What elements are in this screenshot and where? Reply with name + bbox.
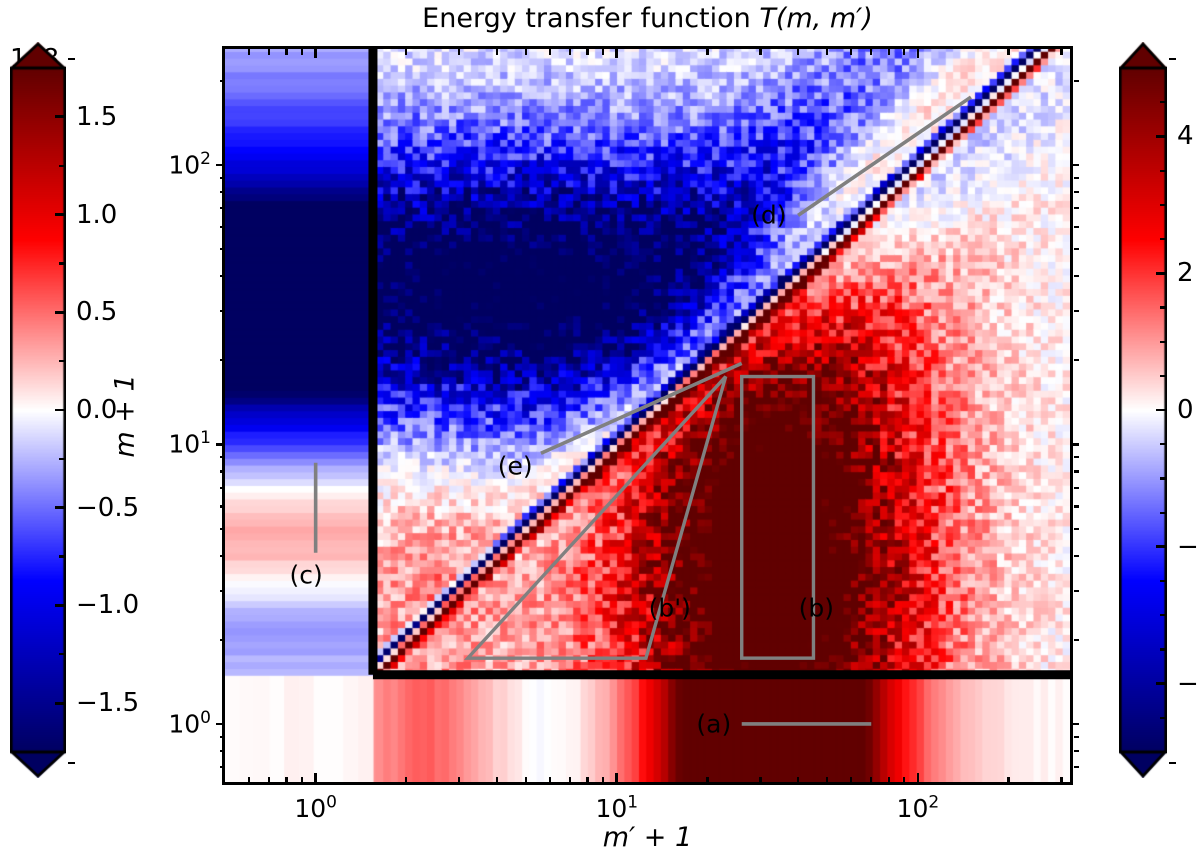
axis-tick [826, 777, 828, 783]
axis-tick [1074, 275, 1080, 277]
axis-tick [220, 226, 226, 228]
colorbar-minor-tick [59, 360, 66, 362]
axis-tick [1007, 49, 1009, 55]
axis-tick [549, 49, 551, 55]
annotation-label-d: (d) [751, 201, 786, 230]
colorbar-minor-tick [1160, 477, 1167, 479]
axis-tick [1074, 528, 1080, 530]
axis-tick [1070, 723, 1079, 726]
annotation-label-b: (b') [649, 593, 691, 622]
axis-tick [903, 49, 905, 55]
colorbar-extend-tick [1169, 58, 1176, 60]
colorbar-tick [1156, 135, 1167, 138]
y-tick-label: 102 [168, 150, 211, 179]
axis-tick [405, 49, 407, 55]
figure-root: Energy transfer function T(m, m′) 1e8 1.… [0, 0, 1200, 864]
axis-tick [917, 49, 920, 58]
axis-tick [525, 777, 527, 783]
axis-tick [405, 777, 407, 783]
colorbar-minor-tick [59, 262, 66, 264]
axis-tick [1074, 470, 1080, 472]
axis-tick [569, 49, 571, 55]
axis-tick [220, 191, 226, 193]
axis-tick [797, 49, 799, 55]
colorbar-tick [55, 604, 66, 607]
axis-tick [268, 49, 270, 55]
annotation-e-marker [541, 363, 742, 453]
axis-tick [220, 310, 226, 312]
axis-tick [314, 773, 317, 782]
axis-tick [220, 275, 226, 277]
colorbar-extend-tick [68, 762, 75, 764]
axis-tick [826, 49, 828, 55]
colorbar-tick [1156, 682, 1167, 685]
annotation-overlay [225, 49, 1070, 782]
colorbar-minor-tick [59, 751, 66, 753]
axis-tick [888, 49, 890, 55]
colorbar-tick [1156, 409, 1167, 412]
axis-tick [1060, 49, 1062, 55]
axis-tick [1060, 777, 1062, 783]
axis-tick [248, 777, 250, 783]
axis-tick [1070, 164, 1079, 167]
axis-tick [1074, 207, 1080, 209]
axis-tick [797, 777, 799, 783]
colorbar-minor-tick [1160, 512, 1167, 514]
axis-tick [586, 49, 588, 55]
annotation-label-a: (a) [696, 709, 731, 738]
y-tick-label: 101 [168, 430, 211, 459]
colorbar-minor-tick [1160, 238, 1167, 240]
colorbar-tick-label: 0 [1177, 395, 1194, 425]
axis-tick [220, 80, 226, 82]
annotation-label-e: (e) [498, 451, 533, 480]
colorbar-tick [1156, 272, 1167, 275]
axis-tick [1074, 80, 1080, 82]
axis-tick [301, 777, 303, 783]
colorbar-minor-tick [59, 458, 66, 460]
axis-tick [1074, 736, 1080, 738]
axis-tick [549, 777, 551, 783]
figure-title: Energy transfer function T(m, m′) [222, 2, 1073, 36]
colorbar-minor-tick [1160, 717, 1167, 719]
axis-tick [220, 766, 226, 768]
axis-tick [917, 773, 920, 782]
colorbar-tick-label: 2 [1177, 258, 1194, 288]
axis-tick [496, 49, 498, 55]
axis-tick [220, 528, 226, 530]
axis-tick [216, 443, 225, 446]
axis-tick [220, 177, 226, 179]
colorbar-tick [55, 506, 66, 509]
y-axis-label-text: m + 1 [110, 374, 141, 457]
axis-tick [248, 49, 250, 55]
axis-tick [1074, 359, 1080, 361]
axis-tick [220, 487, 226, 489]
colorbar-tick-label: −2 [1177, 532, 1200, 562]
axis-tick [220, 505, 226, 507]
colorbar-minor-tick [1160, 580, 1167, 582]
axis-tick [220, 470, 226, 472]
axis-tick [870, 777, 872, 783]
colorbar-minor-tick [1160, 443, 1167, 445]
colorbar-minor-tick [1160, 751, 1167, 753]
x-tick-label: 102 [897, 794, 940, 823]
colorbar-minor-tick [59, 555, 66, 557]
axis-tick [1074, 766, 1080, 768]
axis-tick [268, 777, 270, 783]
axis-tick [1074, 191, 1080, 193]
axis-tick [1074, 750, 1080, 752]
axis-tick [850, 777, 852, 783]
colorbar-tick [55, 311, 66, 314]
axis-tick [602, 49, 604, 55]
x-tick-label: 101 [595, 794, 638, 823]
axis-tick [496, 777, 498, 783]
axis-tick [220, 555, 226, 557]
axis-tick [615, 773, 618, 782]
axis-tick [706, 49, 708, 55]
axis-tick [458, 777, 460, 783]
y-axis-label: m + 1 [108, 46, 142, 785]
colorbar-minor-tick [1160, 341, 1167, 343]
colorbar-minor-tick [1160, 67, 1167, 69]
axis-tick [285, 777, 287, 783]
colorbar-left: 1e8 1.51.00.50.0−0.5−1.0−1.5 [10, 42, 66, 778]
colorbar-minor-tick [1160, 375, 1167, 377]
axis-tick [220, 750, 226, 752]
axis-tick [216, 164, 225, 167]
colorbar-minor-tick [1160, 306, 1167, 308]
axis-tick [1007, 777, 1009, 783]
axis-tick [615, 49, 618, 58]
axis-tick [1074, 310, 1080, 312]
axis-tick [1074, 505, 1080, 507]
colorbar-minor-tick [59, 165, 66, 167]
axis-tick [301, 49, 303, 55]
plot-axes: (a)(b)(b')(c)(d)(e)100101102100101102 [222, 46, 1073, 785]
axis-tick [458, 49, 460, 55]
colorbar-tick [55, 115, 66, 118]
x-axis-label: m′ + 1 [222, 822, 1073, 853]
title-math: T(m, m′) [759, 3, 872, 34]
colorbar-tick-label: 4 [1177, 121, 1194, 151]
axis-tick [888, 777, 890, 783]
axis-tick [903, 777, 905, 783]
axis-tick [850, 49, 852, 55]
annotation-label-c: (c) [290, 561, 323, 590]
colorbar-tick [55, 702, 66, 705]
axis-tick [1074, 248, 1080, 250]
colorbar-tick [1156, 545, 1167, 548]
axis-tick [220, 359, 226, 361]
axis-tick [870, 49, 872, 55]
colorbar-minor-tick [1160, 204, 1167, 206]
axis-tick [1074, 456, 1080, 458]
x-axis-label-text: m′ + 1 [603, 822, 692, 853]
axis-tick [1074, 590, 1080, 592]
title-prefix: Energy transfer function [422, 3, 759, 34]
axis-tick [220, 207, 226, 209]
colorbar-tick-label: −4 [1177, 669, 1200, 699]
colorbar-extend-tick [68, 58, 75, 60]
axis-tick [1074, 555, 1080, 557]
colorbar-minor-tick [59, 653, 66, 655]
axis-tick [1070, 443, 1079, 446]
axis-tick [220, 456, 226, 458]
colorbar-minor-tick [1160, 101, 1167, 103]
axis-tick [569, 777, 571, 783]
axis-tick [220, 736, 226, 738]
axis-tick [1074, 487, 1080, 489]
colorbar-tick [55, 409, 66, 412]
colorbar-minor-tick [1160, 170, 1167, 172]
axis-tick [759, 49, 761, 55]
axis-tick [220, 590, 226, 592]
axis-tick [216, 723, 225, 726]
annotation-d-marker [798, 97, 971, 215]
axis-tick [1074, 226, 1080, 228]
axis-tick [285, 49, 287, 55]
annotation-label-b: (b) [799, 593, 834, 622]
axis-tick [602, 777, 604, 783]
colorbar-tick [55, 213, 66, 216]
axis-tick [314, 49, 317, 58]
axis-tick [220, 639, 226, 641]
colorbar-minor-tick [1160, 648, 1167, 650]
colorbar-minor-tick [1160, 614, 1167, 616]
axis-tick [1074, 177, 1080, 179]
axis-tick [220, 248, 226, 250]
axis-tick [525, 49, 527, 55]
axis-tick [759, 777, 761, 783]
colorbar-right: 1e6 420−2−4 [1119, 42, 1167, 778]
colorbar-minor-tick [59, 67, 66, 69]
axis-tick [706, 777, 708, 783]
axis-tick [586, 777, 588, 783]
y-tick-label: 100 [168, 709, 211, 738]
colorbar-extend-tick [1169, 762, 1176, 764]
axis-tick [1074, 639, 1080, 641]
x-tick-label: 100 [294, 794, 337, 823]
